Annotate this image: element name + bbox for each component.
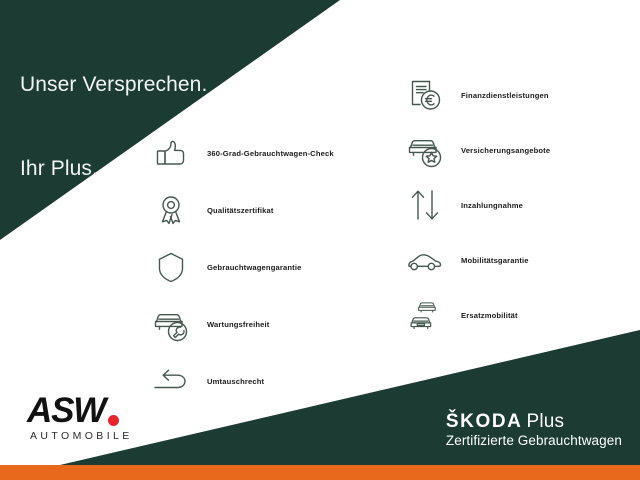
list-item: Finanzdienstleistungen	[402, 70, 637, 120]
skoda-tagline: Zertifizierte Gebrauchtwagen	[446, 433, 622, 448]
skoda-brand-row: ŠKODAPlus	[446, 412, 622, 431]
dealer-logo: ASW AUTOMOBILE	[27, 393, 167, 442]
car-star-icon	[402, 127, 448, 173]
list-item-label: Finanzdienstleistungen	[448, 91, 549, 100]
asw-wordmark-text: ASW	[27, 393, 105, 428]
thumbs-up-icon	[148, 130, 194, 176]
skoda-brand-text: ŠKODA	[446, 411, 523, 432]
list-item: Gebrauchtwagengarantie	[148, 242, 378, 292]
feature-list-left: 360-Grad-Gebrauchtwagen-Check Qualitätsz…	[148, 128, 378, 413]
list-item-label: Inzahlungnahme	[448, 201, 523, 210]
up-down-arrows-icon	[402, 182, 448, 228]
promo-banner: Unser Versprechen. Ihr Plus. 360-Grad-Ge…	[0, 0, 640, 480]
asw-wordmark-row: ASW	[27, 393, 167, 428]
list-item: Ersatzmobilität	[402, 290, 637, 340]
list-item: Inzahlungnahme	[402, 180, 637, 230]
car-wrench-icon	[148, 301, 194, 347]
list-item: Umtauschrecht	[148, 356, 378, 406]
award-rosette-icon	[148, 187, 194, 233]
asw-subtitle: AUTOMOBILE	[27, 430, 167, 442]
list-item-label: 360-Grad-Gebrauchtwagen-Check	[194, 149, 334, 158]
headline-line-1: Unser Versprechen.	[20, 71, 207, 99]
list-item: 360-Grad-Gebrauchtwagen-Check	[148, 128, 378, 178]
list-item-label: Versicherungsangebote	[448, 146, 550, 155]
two-cars-icon	[402, 292, 448, 338]
car-side-icon	[402, 237, 448, 283]
skoda-plus-text: Plus	[526, 411, 564, 432]
list-item: Wartungsfreiheit	[148, 299, 378, 349]
list-item-label: Wartungsfreiheit	[194, 320, 269, 329]
list-item-label: Mobilitätsgarantie	[448, 256, 529, 265]
list-item: Versicherungsangebote	[402, 125, 637, 175]
document-euro-icon	[402, 72, 448, 118]
list-item-label: Qualitätszertifikat	[194, 206, 274, 215]
list-item-label: Ersatzmobilität	[448, 311, 518, 320]
list-item: Mobilitätsgarantie	[402, 235, 637, 285]
feature-list-right: Finanzdienstleistungen Versicherungsange…	[402, 70, 637, 345]
list-item: Qualitätszertifikat	[148, 185, 378, 235]
shield-icon	[148, 244, 194, 290]
orange-accent-bar	[0, 465, 640, 480]
list-item-label: Gebrauchtwagengarantie	[194, 263, 301, 272]
asw-red-dot-icon	[108, 415, 119, 426]
skoda-plus-lockup: ŠKODAPlus Zertifizierte Gebrauchtwagen	[446, 412, 622, 448]
list-item-label: Umtauschrecht	[194, 377, 264, 386]
